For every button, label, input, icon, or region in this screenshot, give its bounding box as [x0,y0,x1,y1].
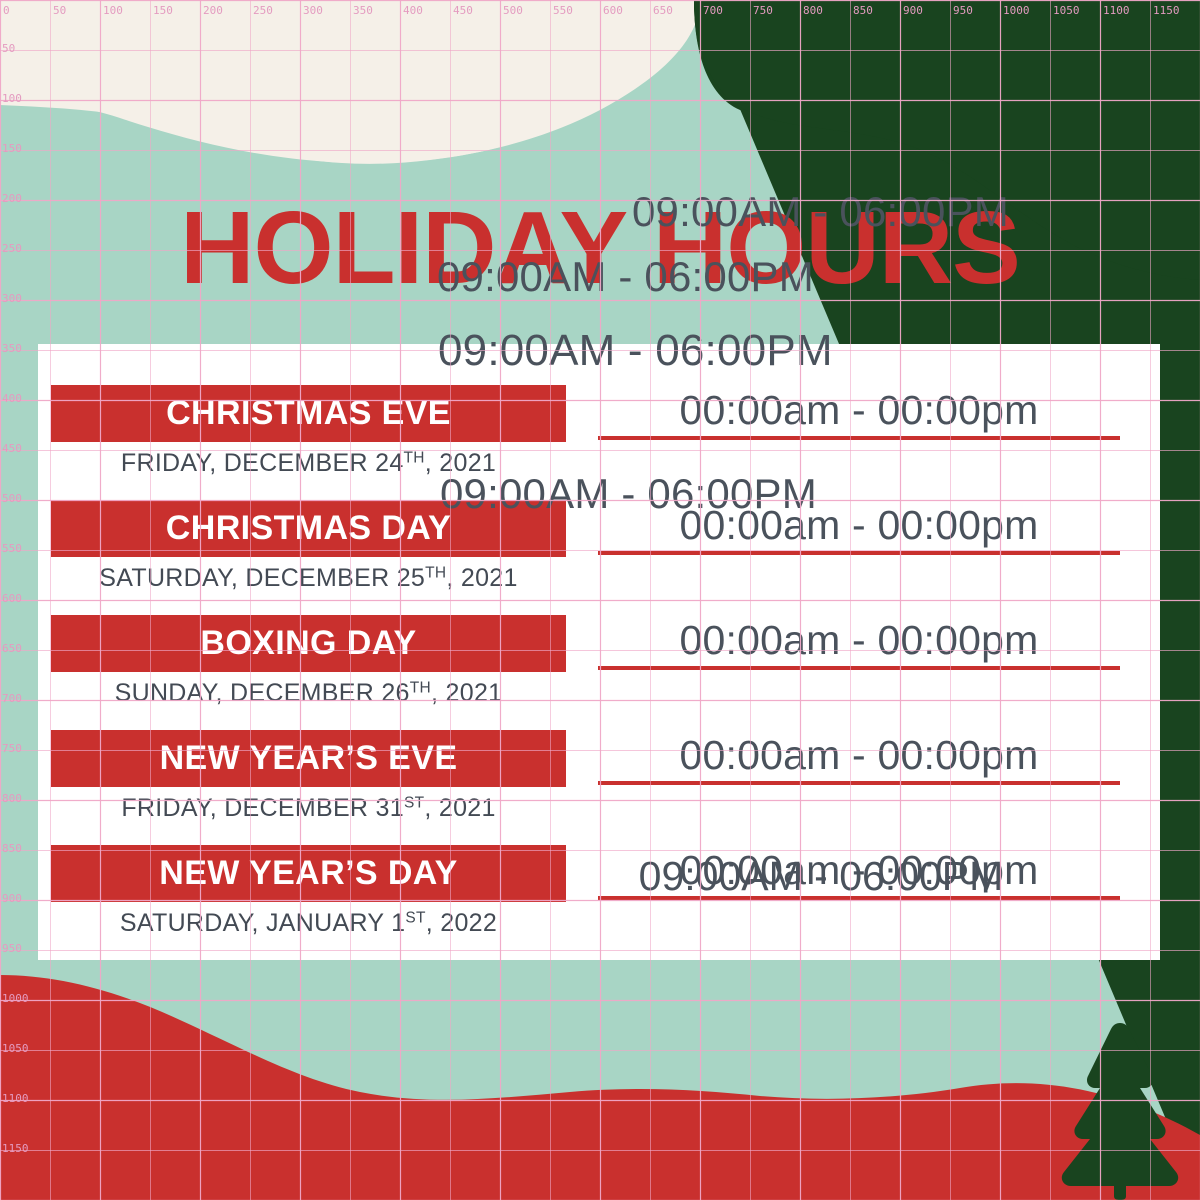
hours-cell: 00:00am - 00:00pm [598,617,1120,670]
holiday-date: FRIDAY, DECEMBER 31ST, 2021 [51,794,566,823]
hours-cell: 00:00am - 00:00pm [598,732,1120,785]
date-ordinal: TH [410,679,431,696]
holiday-name: CHRISTMAS EVE [166,394,451,433]
date-year: , 2021 [446,564,517,592]
date-ordinal: TH [425,564,446,581]
date-ordinal: ST [404,794,424,811]
holiday-name: BOXING DAY [200,624,416,663]
floating-time-3: 09:00AM - 06:00PM [438,326,833,376]
hours-value: 00:00am - 00:00pm [598,732,1120,779]
hours-underline [598,781,1120,785]
floating-time-2: 09:00AM - 06:00PM [437,253,814,301]
hours-value: 00:00am - 00:00pm [598,387,1120,434]
holiday-banner: BOXING DAY [51,615,566,672]
date-text: SATURDAY, DECEMBER 25 [99,564,425,592]
date-text: SATURDAY, JANUARY 1 [120,909,405,937]
date-text: SUNDAY, DECEMBER 26 [115,679,410,707]
date-year: , 2022 [426,909,497,937]
hours-underline [598,551,1120,555]
date-year: , 2021 [431,679,502,707]
hours-underline [598,666,1120,670]
holiday-date: SUNDAY, DECEMBER 26TH, 2021 [51,679,566,708]
holiday-banner: NEW YEAR’S EVE [51,730,566,787]
hours-cell: 00:00am - 00:00pm [598,387,1120,440]
date-ordinal: TH [404,449,425,466]
poster-canvas: 09:00AM - 06:00PM 09:00AM - 06:00PM 09:0… [0,0,1200,1200]
date-year: , 2021 [424,794,495,822]
holiday-name: NEW YEAR’S DAY [159,854,457,893]
floating-time-5: 09:00AM - 06:00PM [560,853,1082,900]
holiday-date: SATURDAY, JANUARY 1ST, 2022 [51,909,566,938]
holiday-banner: NEW YEAR’S DAY [51,845,566,902]
holiday-banner: CHRISTMAS EVE [51,385,566,442]
holiday-name: NEW YEAR’S EVE [160,739,458,778]
floating-time-1: 09:00AM - 06:00PM [632,188,1009,236]
floating-time-4: 09:00AM - 06:00PM [440,470,817,518]
hours-value: 00:00am - 00:00pm [598,617,1120,664]
date-ordinal: ST [405,909,425,926]
holiday-date: SATURDAY, DECEMBER 25TH, 2021 [51,564,566,593]
hours-underline [598,436,1120,440]
date-text: FRIDAY, DECEMBER 24 [121,449,404,477]
date-text: FRIDAY, DECEMBER 31 [121,794,404,822]
holiday-name: CHRISTMAS DAY [166,509,451,548]
